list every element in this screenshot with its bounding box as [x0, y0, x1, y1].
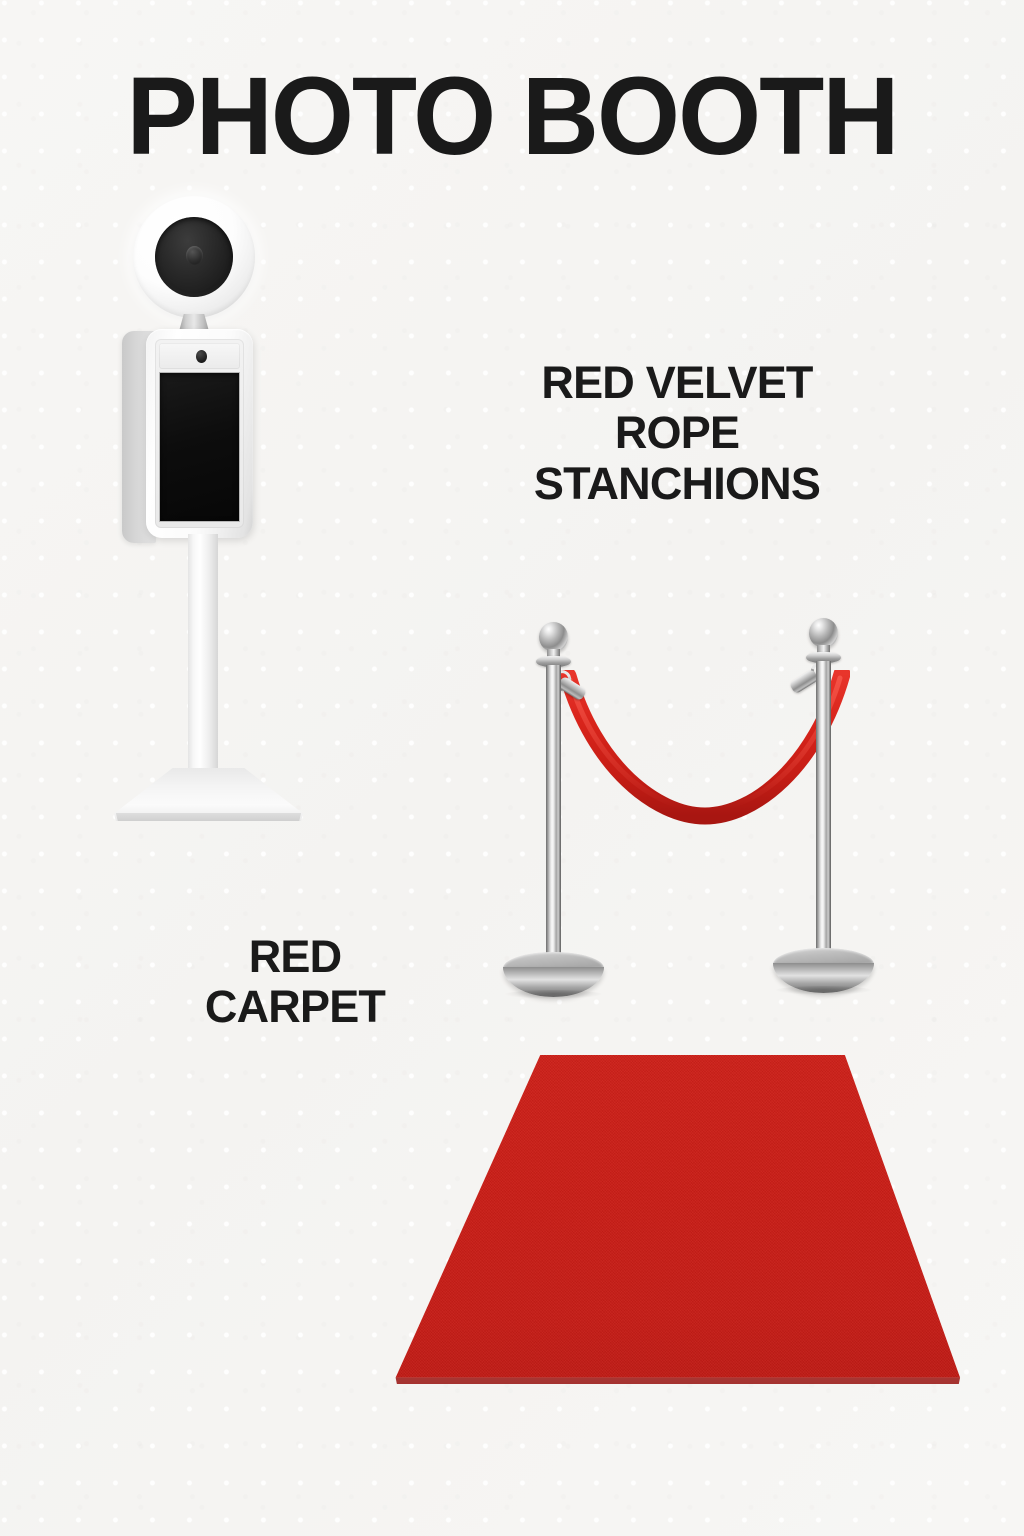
rope-ferrule-right: [789, 669, 820, 695]
rope-ferrule-left: [557, 676, 588, 702]
kiosk-touch-screen[interactable]: [159, 372, 240, 522]
stanchion-ball-finial-icon: [809, 618, 838, 648]
kiosk-camera-dot-icon: [196, 350, 207, 363]
kiosk-screen-bezel: [155, 339, 244, 528]
red-carpet-label: RED CARPET: [85, 932, 505, 1033]
stanchion-base-shadow: [505, 990, 602, 999]
stanchion-base-shadow: [775, 986, 872, 995]
photo-booth-kiosk: [104, 196, 314, 821]
page-title: PHOTO BOOTH: [15, 62, 1008, 172]
red-carpet: [370, 1052, 1010, 1386]
rope-stanchions-label: RED VELVET ROPE STANCHIONS: [437, 358, 917, 509]
ring-light-inner-disc: [155, 217, 233, 297]
stanchion-left: [495, 622, 611, 1022]
kiosk-base-plate-edge: [114, 813, 303, 821]
kiosk-camera-strip: [159, 343, 240, 369]
stanchion-ball-finial-icon: [539, 622, 568, 652]
stanchion-post: [816, 661, 831, 958]
stanchion-right: [765, 618, 881, 1018]
camera-lens-icon: [186, 246, 203, 265]
kiosk-body: [146, 329, 253, 538]
stanchion-post: [546, 665, 561, 962]
ring-light-icon: [133, 196, 255, 318]
poster-canvas: PHOTO BOOTH RED VELVET ROPE STANCHIONS: [0, 0, 1024, 1536]
red-carpet-surface: [370, 1052, 1010, 1386]
kiosk-pole: [188, 534, 218, 782]
